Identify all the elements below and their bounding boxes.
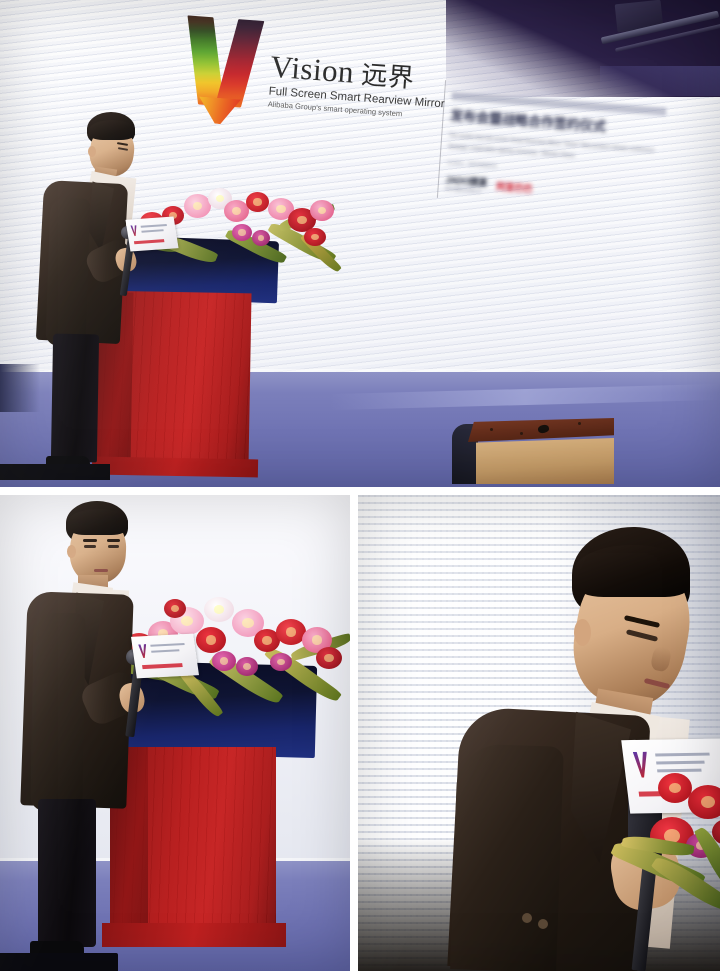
legs	[38, 799, 96, 947]
flower-red-gerbera	[688, 785, 720, 819]
card-text-line	[141, 224, 167, 228]
card-v-logo	[130, 225, 138, 236]
hair-front	[574, 545, 690, 597]
partner-logo-text: 阿里巴巴	[496, 179, 533, 195]
photo-collage: Vision 远界 Full Screen Smart Rearview Mir…	[0, 0, 720, 971]
presenter	[398, 515, 718, 971]
presenter	[22, 501, 222, 961]
flower-magenta	[252, 230, 270, 246]
legs	[51, 334, 99, 463]
ceiling-glow	[600, 66, 720, 96]
mic-flag-card	[125, 217, 178, 252]
card-v-logo	[138, 644, 148, 658]
flower-magenta	[232, 224, 252, 241]
vision-title-cn: 远界	[360, 60, 415, 93]
panel-bottom-left	[0, 495, 350, 971]
wedge-speaker-grille	[476, 438, 614, 484]
card-accent-line	[134, 239, 165, 244]
flower-red-gerbera	[658, 773, 692, 803]
panel-bottom-right	[358, 495, 720, 971]
floral-arrangement	[636, 751, 720, 951]
hair-front	[89, 120, 135, 140]
ear	[67, 545, 76, 558]
mouth	[94, 569, 108, 572]
stage-riser	[0, 464, 110, 480]
announcement-text-block: 发布会暨战略合作签约仪式 The world's first full scre…	[445, 92, 702, 209]
mic-flag-card	[131, 634, 199, 679]
arm-right	[30, 613, 85, 812]
wedge-screw	[578, 422, 581, 425]
flower-pink	[310, 200, 334, 221]
flower-red	[246, 192, 269, 212]
stage-wedge-monitor	[452, 418, 614, 484]
eye-left	[84, 545, 96, 548]
vision-title: Vision	[269, 49, 355, 90]
ear	[88, 146, 96, 157]
eyebrow-left	[83, 539, 97, 542]
jacket-button	[538, 919, 548, 929]
flower-magenta	[270, 653, 292, 671]
vision-logo-lockup: Vision 远界 Full Screen Smart Rearview Mir…	[188, 16, 450, 142]
jacket-button	[522, 913, 532, 923]
wedge-screw	[520, 432, 523, 435]
v-logo-right-stroke	[215, 19, 264, 107]
stage-riser	[0, 953, 118, 971]
flower-red	[304, 228, 326, 246]
flower-magenta	[236, 657, 258, 676]
presenter	[32, 112, 212, 480]
card-text-line	[150, 643, 184, 647]
wedge-screw	[490, 428, 493, 431]
eyebrow-right	[107, 539, 120, 542]
arm-right	[45, 197, 90, 346]
arm-right	[450, 743, 564, 971]
eye-right	[108, 545, 119, 548]
panel-top: Vision 远界 Full Screen Smart Rearview Mir…	[0, 0, 720, 487]
card-text-line	[141, 229, 163, 232]
ear	[574, 619, 591, 646]
card-accent-line	[142, 663, 183, 669]
card-text-line	[151, 649, 179, 652]
hair-front	[68, 509, 128, 535]
flower-red-dark	[316, 647, 342, 669]
